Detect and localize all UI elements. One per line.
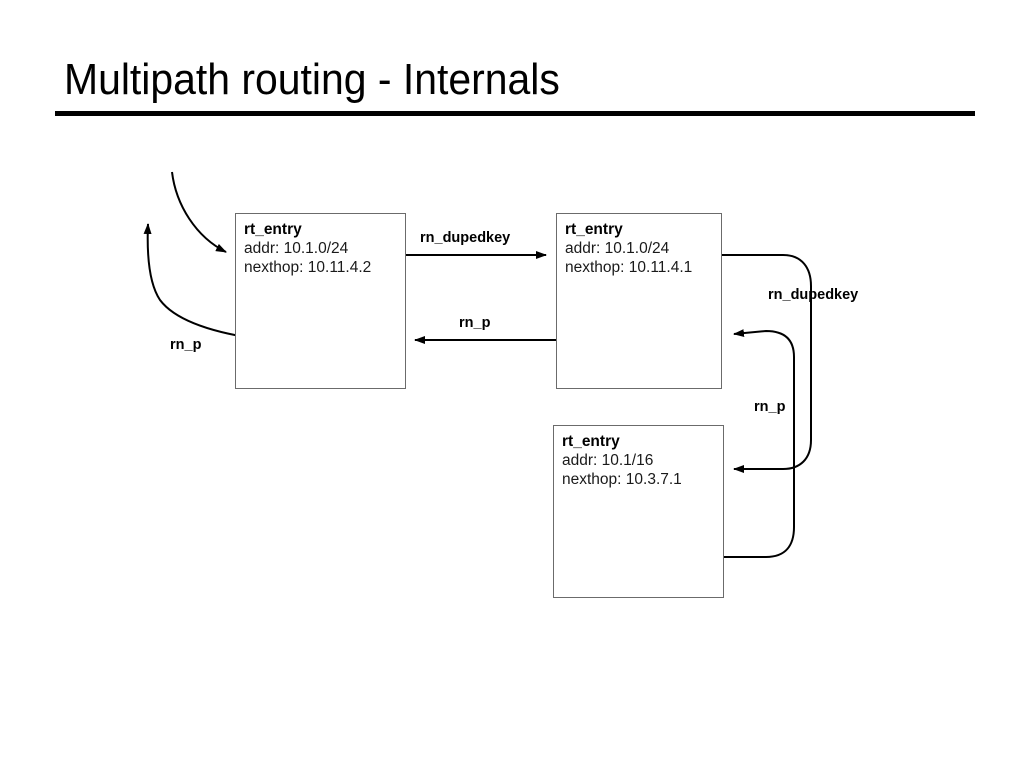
rt-entry-node-2[interactable]: rt_entry addr: 10.1.0/24 nexthop: 10.11.…: [556, 213, 722, 389]
multipath-routing-diagram: rt_entry addr: 10.1.0/24 nexthop: 10.11.…: [0, 0, 1024, 768]
edge-label-dupedkey-1-2: rn_dupedkey: [420, 230, 510, 246]
edge-label-rnp-2-1: rn_p: [459, 315, 490, 331]
edge-rnp-3-2: [724, 331, 794, 557]
node-1-addr: addr: 10.1.0/24: [244, 239, 405, 258]
node-1-nexthop: nexthop: 10.11.4.2: [244, 258, 405, 277]
edge-label-dupedkey-2-3: rn_dupedkey: [768, 287, 858, 303]
node-2-nexthop: nexthop: 10.11.4.1: [565, 258, 721, 277]
rt-entry-node-3[interactable]: rt_entry addr: 10.1/16 nexthop: 10.3.7.1: [553, 425, 724, 598]
node-1-title: rt_entry: [244, 220, 405, 239]
node-2-addr: addr: 10.1.0/24: [565, 239, 721, 258]
rt-entry-node-1[interactable]: rt_entry addr: 10.1.0/24 nexthop: 10.11.…: [235, 213, 406, 389]
edge-layer: [0, 0, 1024, 768]
edge-label-rnp-3-2: rn_p: [754, 399, 785, 415]
node-3-addr: addr: 10.1/16: [562, 451, 723, 470]
edge-incoming-from-parent: [172, 172, 226, 252]
node-3-nexthop: nexthop: 10.3.7.1: [562, 470, 723, 489]
node-3-title: rt_entry: [562, 432, 723, 451]
node-2-title: rt_entry: [565, 220, 721, 239]
edge-label-rnp-1-parent: rn_p: [170, 337, 201, 353]
